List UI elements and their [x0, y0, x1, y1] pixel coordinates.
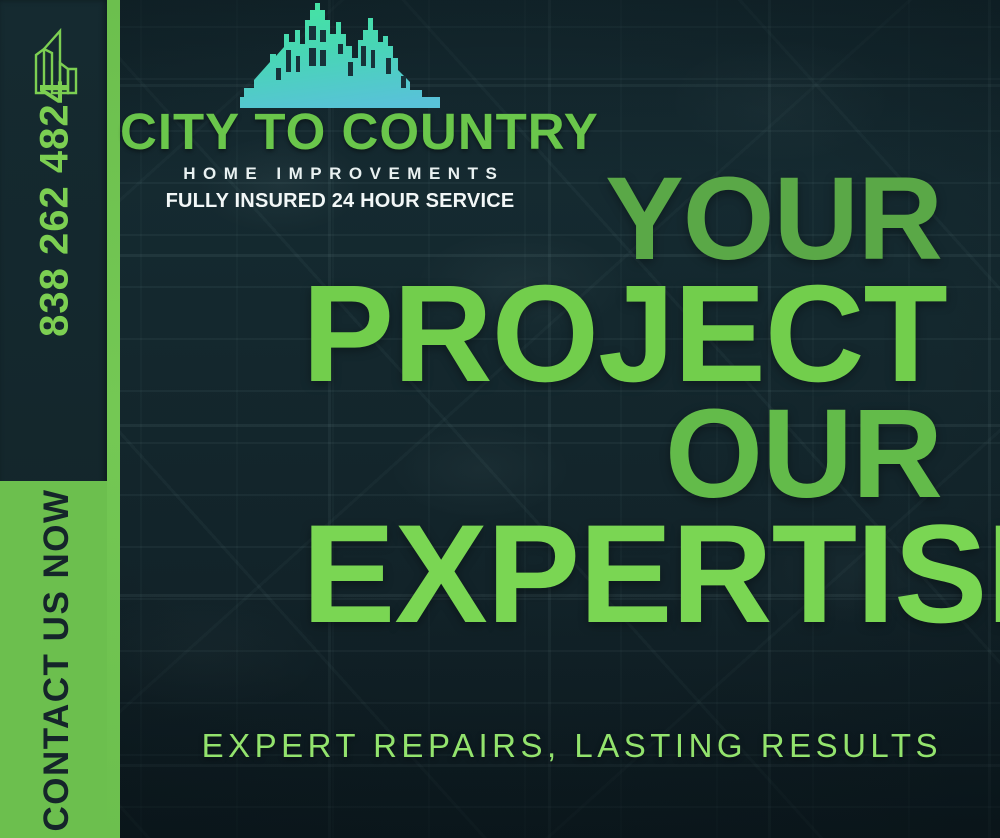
headline-line-3: OUR [302, 399, 942, 510]
headline-line-4: EXPERTISE [302, 512, 942, 635]
headline-block: YOUR PROJECT OUR EXPERTISE [302, 168, 942, 635]
phone-number[interactable]: 838 262 4824 [2, 34, 109, 384]
contact-us-now-cta[interactable]: CONTACT US NOW [1, 490, 113, 830]
footer-tagline: EXPERT REPAIRS, LASTING RESULTS [202, 727, 942, 765]
logo-company-name: CITY TO COUNTRY [120, 106, 560, 157]
poster-canvas: 838 262 4824 CONTACT US NOW [0, 0, 1000, 838]
headline-line-2: PROJECT [302, 274, 942, 395]
city-skyline-mountain-mark [240, 0, 440, 108]
